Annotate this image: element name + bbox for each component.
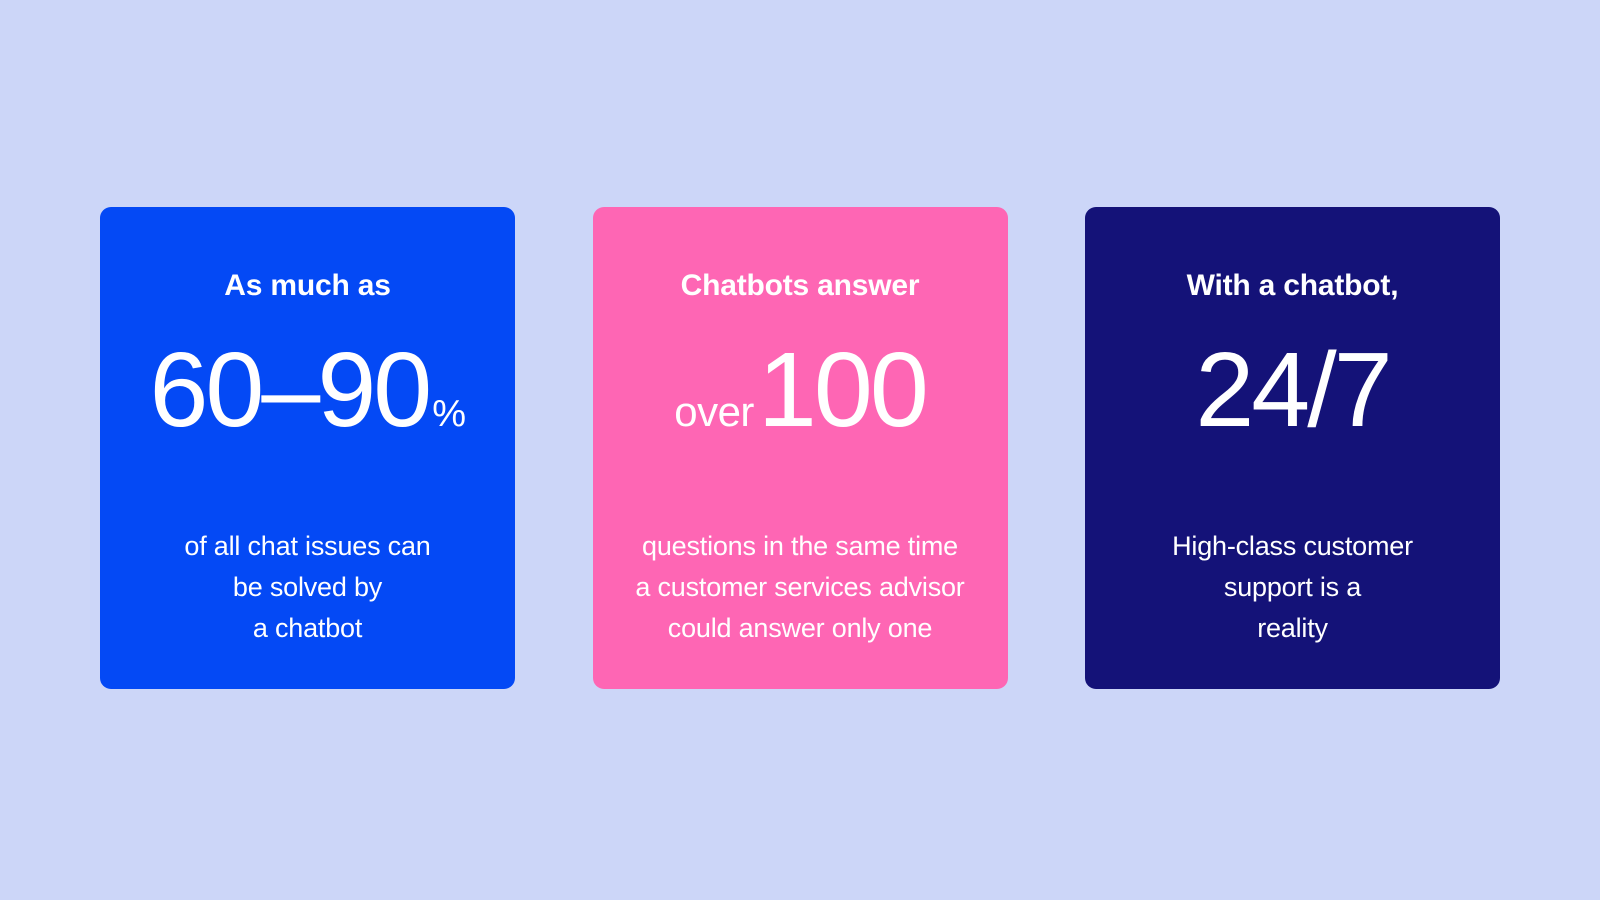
stat-body-line: a chatbot bbox=[184, 608, 430, 649]
stat-figure: 60–90 % bbox=[149, 337, 465, 455]
stat-headline: With a chatbot, bbox=[1187, 269, 1399, 303]
stat-card-questions-answered: Chatbots answer over 100 questions in th… bbox=[593, 207, 1008, 689]
stat-body-line: could answer only one bbox=[635, 608, 964, 649]
stat-figure: 24/7 bbox=[1195, 337, 1389, 455]
stat-body-line: be solved by bbox=[184, 567, 430, 608]
stat-headline: Chatbots answer bbox=[681, 269, 920, 303]
stat-body-line: High-class customer bbox=[1172, 526, 1413, 567]
stat-body: questions in the same time a customer se… bbox=[635, 526, 964, 649]
stat-figure-value: 24/7 bbox=[1195, 337, 1389, 443]
stat-figure: over 100 bbox=[674, 337, 926, 455]
stat-body-line: a customer services advisor bbox=[635, 567, 964, 608]
stat-figure-value: 60–90 bbox=[149, 337, 429, 443]
stat-body: High-class customer support is a reality bbox=[1172, 526, 1413, 649]
stat-body-line: support is a bbox=[1172, 567, 1413, 608]
stat-body-line: reality bbox=[1172, 608, 1413, 649]
stat-headline: As much as bbox=[224, 269, 390, 303]
stat-figure-suffix: % bbox=[432, 393, 465, 436]
stat-body-line: questions in the same time bbox=[635, 526, 964, 567]
stat-figure-value: 100 bbox=[758, 337, 926, 443]
stat-card-always-available-support: With a chatbot, 24/7 High-class customer… bbox=[1085, 207, 1500, 689]
stat-card-chat-issues-solved: As much as 60–90 % of all chat issues ca… bbox=[100, 207, 515, 689]
stat-body: of all chat issues can be solved by a ch… bbox=[184, 526, 430, 649]
stat-cards-board: As much as 60–90 % of all chat issues ca… bbox=[100, 207, 1500, 689]
stat-figure-prefix: over bbox=[674, 388, 754, 436]
stat-body-line: of all chat issues can bbox=[184, 526, 430, 567]
